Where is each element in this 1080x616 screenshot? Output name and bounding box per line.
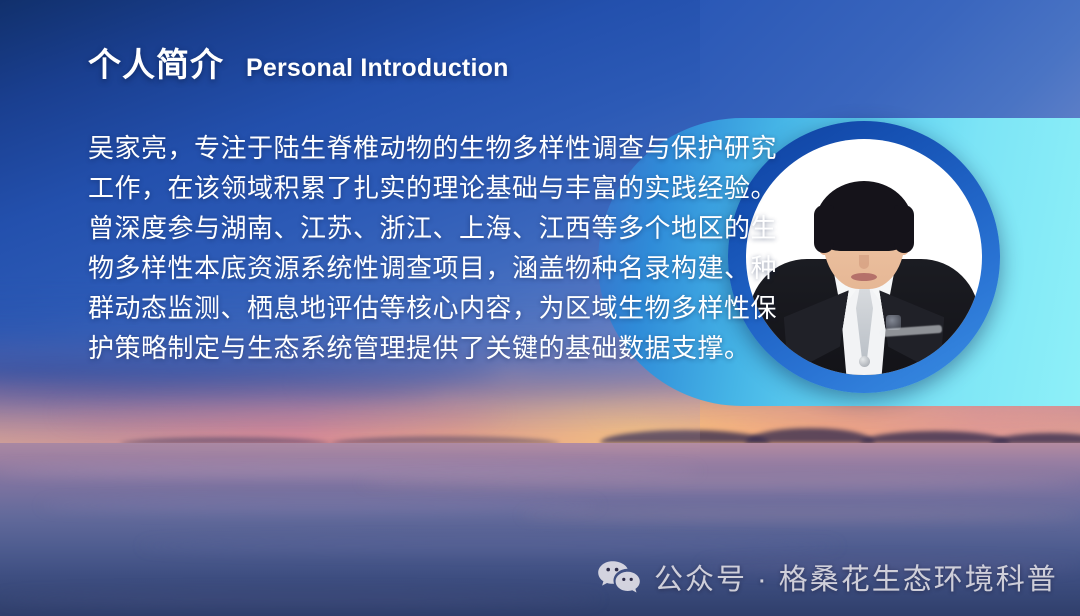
paragraph-line: 工作，在该领域积累了扎实的理论基础与丰富的实践经验。 [88, 168, 688, 208]
mouth [851, 273, 877, 281]
water-ripple [140, 540, 840, 552]
water-ripple [40, 500, 600, 511]
slide-title: 个人简介 Personal Introduction [88, 48, 509, 81]
water-ripple [520, 510, 1080, 520]
paragraph-line: 吴家亮，专注于陆生脊椎动物的生物多样性调查与保护研究 [88, 128, 688, 168]
watermark-text: 公众号 · 格桑花生态环境科普 [654, 556, 1058, 598]
hair-side-left [814, 205, 834, 253]
paragraph-line: 物多样性本底资源系统性调查项目，涵盖物种名录构建、种 [88, 248, 688, 288]
title-english: Personal Introduction [246, 56, 509, 81]
presentation-slide: 个人简介 Personal Introduction 吴家亮，专注于陆生脊椎动物… [0, 0, 1080, 616]
wechat-icon [597, 560, 641, 594]
suit-button [859, 356, 870, 367]
title-chinese: 个人简介 [88, 48, 224, 81]
paragraph-line: 曾深度参与湖南、江苏、浙江、上海、江西等多个地区的生 [88, 208, 688, 248]
paragraph-line: 护策略制定与生态系统管理提供了关键的基础数据支撑。 [88, 328, 688, 368]
paragraph-line: 群动态监测、栖息地评估等核心内容，为区域生物多样性保 [88, 288, 688, 328]
nose [859, 255, 869, 269]
hair-side-right [894, 205, 914, 253]
water-ripple [0, 592, 600, 606]
introduction-paragraph: 吴家亮，专注于陆生脊椎动物的生物多样性调查与保护研究 工作，在该领域积累了扎实的… [88, 128, 688, 368]
portrait-photo [746, 139, 982, 375]
watermark: 公众号 · 格桑花生态环境科普 [597, 556, 1058, 598]
